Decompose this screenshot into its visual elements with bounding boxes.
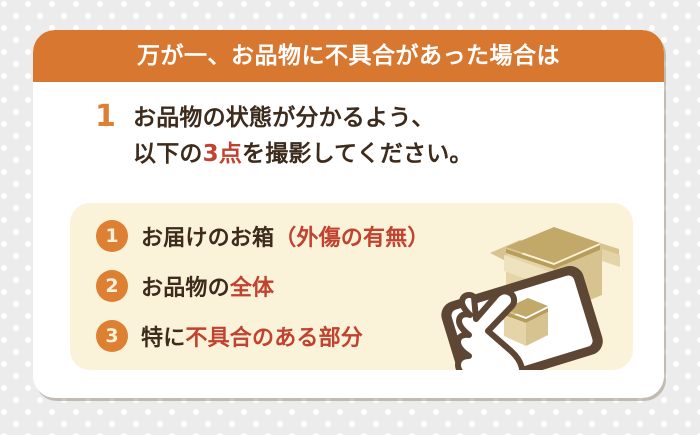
step-text: お品物の状態が分かるよう、 以下の3点を撮影してください。 [133, 100, 473, 172]
sub-item-badge-2: 2 [96, 270, 128, 302]
list-item: 3 特に不具合のある部分 [96, 317, 363, 355]
sub-item-3-plain: 特に [141, 326, 185, 351]
page-root: 万が一、お品物に不具合があった場合は 1 お品物の状態が分かるよう、 以下の3点… [0, 0, 700, 435]
step-number: 1 [95, 100, 133, 172]
sub-item-label-2: お品物の全体 [141, 270, 274, 302]
sub-item-badge-3: 3 [96, 320, 128, 352]
sub-item-2-plain: お品物の [141, 276, 230, 301]
sub-item-label-3: 特に不具合のある部分 [141, 320, 363, 352]
sub-item-label-1: お届けのお箱（外傷の有無） [141, 220, 430, 252]
list-item: 2 お品物の全体 [96, 267, 274, 305]
step-line2-prefix: 以下の [133, 141, 203, 167]
sub-item-badge-1: 1 [96, 220, 128, 252]
sub-item-1-plain: お届けのお箱 [141, 226, 274, 251]
step-line2-suffix: を撮影してください。 [242, 141, 473, 167]
info-card: 万が一、お品物に不具合があった場合は 1 お品物の状態が分かるよう、 以下の3点… [33, 30, 664, 398]
card-header: 万が一、お品物に不具合があった場合は [33, 30, 664, 82]
sub-item-2-highlight: 全体 [230, 276, 274, 301]
sub-item-1-highlight: （外傷の有無） [274, 226, 429, 251]
open-cardboard-box-icon [490, 227, 620, 315]
box-on-screen-icon [488, 298, 548, 346]
tablet-device-icon [438, 262, 606, 370]
box-photo-illustration-icon [414, 205, 629, 370]
step-block: 1 お品物の状態が分かるよう、 以下の3点を撮影してください。 [33, 82, 664, 172]
step-text-line2: 以下の3点を撮影してください。 [133, 136, 473, 172]
pointing-hand-icon [458, 291, 522, 370]
sub-items-panel: 1 お届けのお箱（外傷の有無） 2 お品物の全体 3 特に不具合のある部分 [70, 203, 633, 370]
step-line2-highlight: 3点 [203, 141, 242, 167]
list-item: 1 お届けのお箱（外傷の有無） [96, 217, 430, 255]
step-text-line1: お品物の状態が分かるよう、 [133, 100, 473, 136]
header-title: 万が一、お品物に不具合があった場合は [137, 45, 560, 68]
sub-item-3-highlight: 不具合のある部分 [185, 326, 363, 351]
